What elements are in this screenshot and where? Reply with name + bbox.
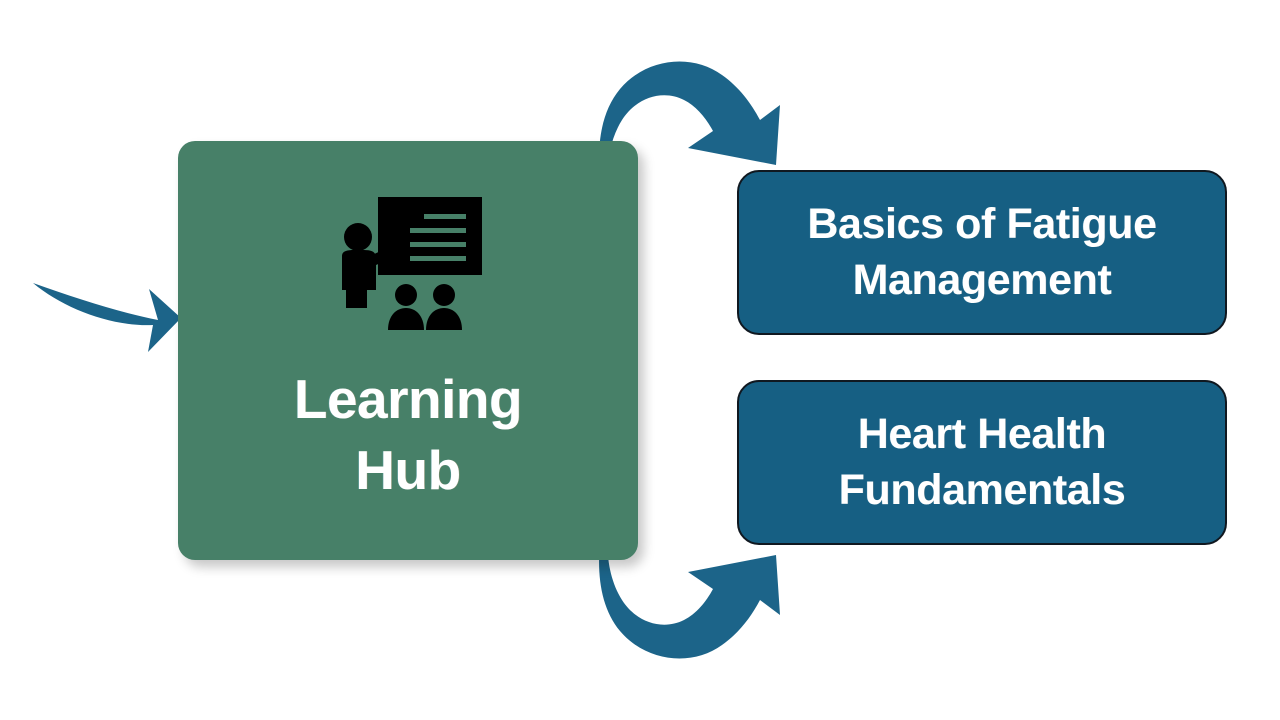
course-card-basics-of-fatigue-management[interactable]: Basics of Fatigue Management <box>737 170 1227 335</box>
teacher-presentation-icon <box>332 194 484 334</box>
learning-hub-title: Learning Hub <box>294 364 522 505</box>
inbound-arrow-left-icon <box>33 283 181 352</box>
learning-hub-card[interactable]: Learning Hub <box>178 141 638 560</box>
course-card-heart-health-fundamentals[interactable]: Heart Health Fundamentals <box>737 380 1227 545</box>
diagram-canvas: Learning Hub Basics of Fatigue Managemen… <box>0 0 1280 720</box>
course-card-label: Basics of Fatigue Management <box>807 197 1156 309</box>
course-card-label: Heart Health Fundamentals <box>839 407 1126 519</box>
